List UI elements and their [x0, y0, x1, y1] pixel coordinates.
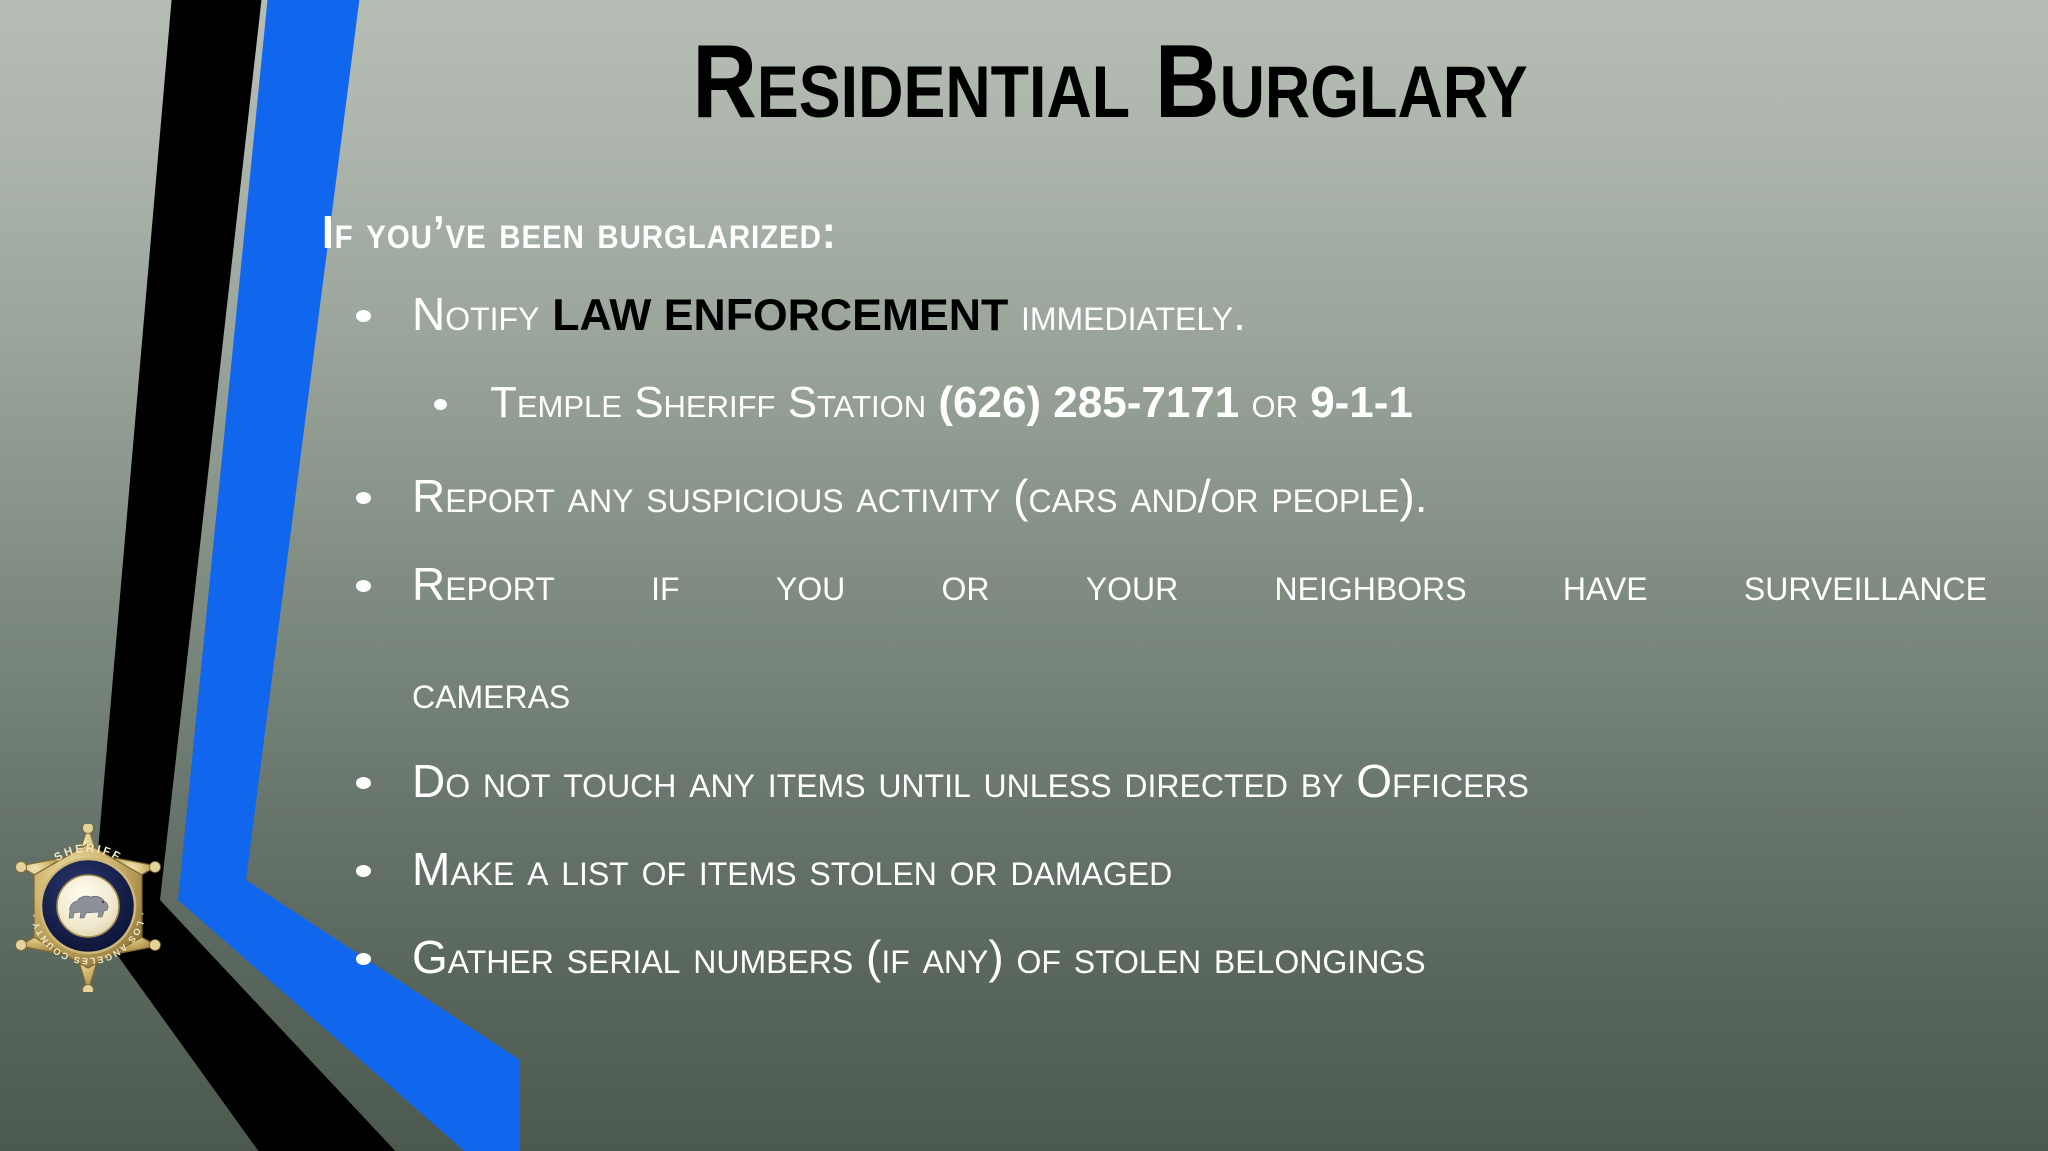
slide-canvas: SHERIFF · LOS ANGELES COUNTY · Residenti…: [0, 0, 2048, 1151]
bullet-dot-icon: [356, 310, 371, 322]
bullet-make-list-of-items: Make a list of items stolen or damaged: [322, 842, 1987, 896]
bullet-dot-icon: [434, 399, 447, 410]
bullet-text: Make a list of items stolen or damaged: [412, 843, 1172, 895]
subheading: If you’ve been burglarized:: [322, 205, 1854, 259]
bullet-text: or: [1239, 378, 1310, 427]
bullet-list: Notify LAW ENFORCEMENT immediately.Templ…: [322, 287, 1987, 984]
emphasis-white: (626) 285-7171: [938, 378, 1239, 427]
page-title: Residential Burglary: [637, 28, 1583, 137]
bullet-temple-sheriff-station: Temple Sheriff Station (626) 285-7171 or…: [322, 377, 1987, 429]
bullet-dot-icon: [356, 953, 371, 965]
sheriff-star-icon: SHERIFF · LOS ANGELES COUNTY ·: [8, 824, 168, 992]
bullet-do-not-touch-items: Do not touch any items until unless dire…: [322, 754, 1987, 808]
bullet-report-surveillance-cameras: Report if you or your neighbors have sur…: [322, 557, 1987, 720]
bullet-text: Report any suspicious activity (cars and…: [412, 470, 1427, 522]
bullet-text: Temple Sheriff Station: [490, 378, 938, 427]
sheriff-badge: SHERIFF · LOS ANGELES COUNTY ·: [8, 824, 168, 992]
bullet-text: Gather serial numbers (if any) of stolen…: [412, 931, 1426, 983]
bullet-dot-icon: [356, 580, 371, 592]
emphasis-white: 9-1-1: [1310, 378, 1413, 427]
bullet-gather-serial-numbers: Gather serial numbers (if any) of stolen…: [322, 930, 1987, 984]
bullet-line: Report if you or your neighbors have sur…: [412, 557, 1987, 666]
bullet-dot-icon: [356, 777, 371, 789]
bullet-dot-icon: [356, 865, 371, 877]
bullet-report-suspicious-activity: Report any suspicious activity (cars and…: [322, 469, 1987, 523]
bullet-dot-icon: [356, 492, 371, 504]
body-content: If you’ve been burglarized: Notify LAW E…: [322, 205, 1987, 1018]
bullet-line: cameras: [412, 665, 1987, 719]
emphasis-black: LAW ENFORCEMENT: [552, 291, 1008, 340]
bullet-text: immediately.: [1008, 288, 1246, 340]
bullet-text: Notify: [412, 288, 552, 340]
bullet-text: Do not touch any items until unless dire…: [412, 755, 1529, 807]
bullet-notify-law-enforcement: Notify LAW ENFORCEMENT immediately.: [322, 287, 1987, 343]
